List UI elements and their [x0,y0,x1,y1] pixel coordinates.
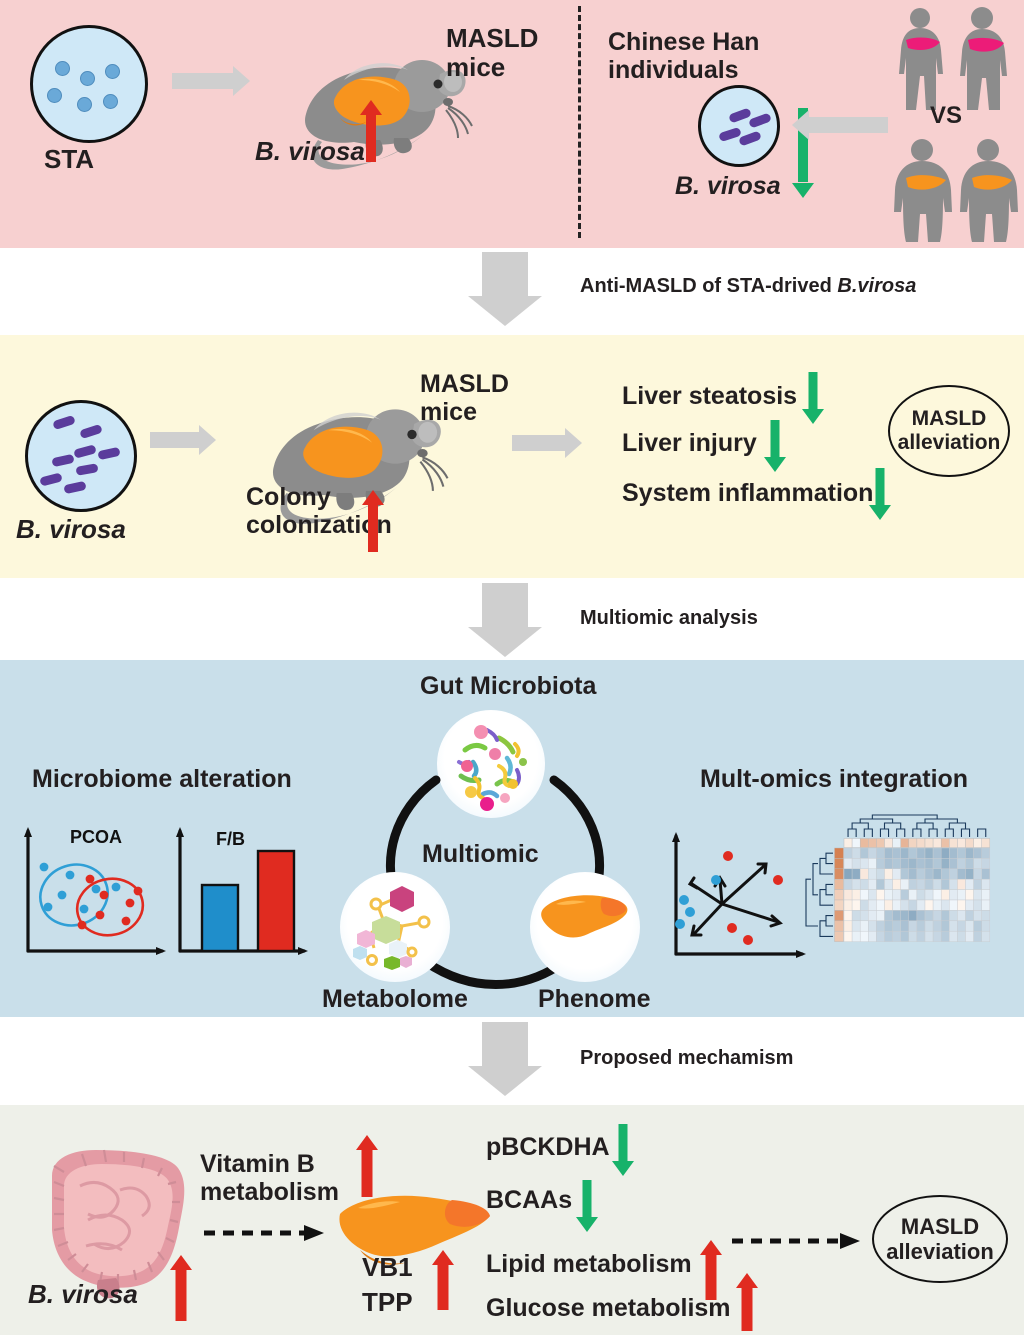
masld-alleviation-badge-yellow: MASLD alleviation [888,385,1010,477]
heatmap-cell [933,890,941,900]
multiomic-center-label: Multiomic [422,840,539,868]
heatmap-cell [982,900,990,910]
bacteria-dot [105,64,120,79]
bacteria-rod [73,444,97,458]
heatmap-cell [966,931,974,941]
bacteria-rod [738,131,762,147]
heatmap-cell [957,869,965,879]
heatmap-cell [909,921,917,931]
heatmap-cell [901,921,909,931]
connector-label-1-text: Anti-MASLD of STA-drived [580,275,837,297]
heatmap-cell [974,921,982,931]
heatmap-cell [966,900,974,910]
heatmap-cell [852,900,860,910]
heatmap-cell [949,848,957,858]
metabolome-label: Metabolome [322,985,468,1013]
fb-bar-treated [258,851,294,951]
heatmap-cell [966,858,974,868]
outcome-system-inflammation: System inflammation [622,479,873,507]
heatmap-cell [868,858,876,868]
heatmap-cell [941,921,949,931]
heatmap-cell [860,879,868,889]
heatmap-cell [974,858,982,868]
multiomics-biplot-chart [660,818,825,973]
down-arrow-liver-steatosis [802,372,824,424]
heatmap-cell [933,900,941,910]
heatmap-cell [966,910,974,920]
heatmap-cell [893,931,901,941]
b-virosa-label-human: B. virosa [675,172,781,200]
heatmap-cell [868,890,876,900]
up-arrow-glucose-metabolism [736,1273,758,1331]
heatmap-cell [949,858,957,868]
heatmap-cell [974,900,982,910]
heatmap-cell [949,931,957,941]
heatmap-cell [860,900,868,910]
heatmap-cell [949,900,957,910]
heatmap-cell [974,890,982,900]
heatmap-cell [974,879,982,889]
heatmap-cell [957,879,965,889]
heatmap-cell [885,921,893,931]
heatmap-cell [885,900,893,910]
masld-mice-label-yellow: MASLD mice [420,370,509,426]
dendrogram-branch [961,829,969,837]
heatmap-cell [876,858,884,868]
heatmap-cell [909,900,917,910]
heatmap-cell [909,858,917,868]
heatmap-cell [901,910,909,920]
heatmap-cell [893,839,901,848]
heatmap-cell [917,921,925,931]
pcoa-title: PCOA [70,827,122,847]
heatmap-cell [909,931,917,941]
heatmap-cell [933,869,941,879]
heatmap-cell [974,869,982,879]
human-petri-dish [698,85,780,167]
heatmap-cell [901,848,909,858]
heatmap-cell [835,879,844,889]
masld-alleviation-text-yellow: MASLD alleviation [890,407,1008,455]
phenome-label: Phenome [538,985,651,1013]
heatmap-cell [876,848,884,858]
heatmap-cell [949,879,957,889]
heatmap-cell [852,879,860,889]
heatmap-cell [885,879,893,889]
down-arrow-liver-injury [764,420,786,472]
heatmap-cell [852,921,860,931]
heatmap-cell [844,931,852,941]
heatmap-cell [909,839,917,848]
heatmap-cell [893,879,901,889]
dashed-arrow-gut-to-liver [202,1222,332,1244]
heatmap-cell [844,869,852,879]
up-arrow-b-virosa-mice [360,100,382,162]
heatmap-cell [876,890,884,900]
heatmap-cell [949,890,957,900]
heatmap-cell [860,869,868,879]
heatmap-cell [835,900,844,910]
connector-label-1: Anti-MASLD of STA-drived B.virosa [580,275,916,298]
pcoa-scatter-chart: PCOA [12,815,180,967]
heatmap-cell [949,921,957,931]
heatmap-cell [917,900,925,910]
heatmap-cell [868,869,876,879]
heatmap-cell [941,848,949,858]
heatmap-cell [925,848,933,858]
heatmap-cell [893,848,901,858]
heatmap-cell [844,910,852,920]
heatmap-cell [909,869,917,879]
effect-bcaas: BCAAs [486,1186,572,1214]
heatmap-cell [844,921,852,931]
down-arrow-bcaas [576,1180,598,1232]
metabolome-circle [340,872,450,982]
heatmap-cell [933,910,941,920]
down-arrow-pbckdha [612,1124,634,1176]
heatmap-cell [982,869,990,879]
heatmap-cell [860,931,868,941]
heatmap-cell [941,900,949,910]
heatmap-cell [957,839,965,848]
heatmap-cell [933,921,941,931]
heatmap-cell [876,900,884,910]
heatmap-cell [901,890,909,900]
healthy-human-figures [890,6,1020,116]
down-arrow-system-inflammation [869,468,891,520]
heatmap-cell [949,839,957,848]
heatmap-cell [925,890,933,900]
dendrogram-branch [826,916,833,926]
heatmap-cell [901,839,909,848]
heatmap-cell [966,848,974,858]
heatmap-cell [860,848,868,858]
heatmap-cell [835,869,844,879]
heatmap-cell [925,921,933,931]
heatmap-cell [876,921,884,931]
dendrogram-branch [897,829,905,837]
heatmap-cell [982,848,990,858]
grey-arrow-dish-to-mouse [150,432,200,448]
dendrogram-branch [864,829,872,837]
heatmap-cell [917,931,925,941]
heatmap-cell [835,931,844,941]
chinese-han-label: Chinese Han individuals [608,28,759,84]
dendrogram-branch [978,829,986,837]
bacteria-dot [77,97,92,112]
heatmap-cell [941,931,949,941]
masld-alleviation-text-green: MASLD alleviation [874,1214,1006,1265]
heatmap-cell [893,921,901,931]
b-virosa-petri-dish [25,400,137,512]
heatmap-cell [885,910,893,920]
outcome-liver-injury: Liver injury [622,429,757,457]
heatmap-cell [941,879,949,889]
effect-pbckdha: pBCKDHA [486,1133,610,1161]
heatmap-cell [893,869,901,879]
heatmap-cell [909,879,917,889]
grey-arrow-humans-to-dish [808,117,888,133]
heatmap-cell [844,858,852,868]
heatmap-cell [982,858,990,868]
heatmap-cell [901,931,909,941]
heatmap-cell [852,890,860,900]
dendrogram-branch [885,823,901,829]
heatmap-cell [925,931,933,941]
bacteria-rod [51,454,74,467]
heatmap-cell [941,890,949,900]
dendrogram-branch [852,823,868,829]
heatmap-cell [868,931,876,941]
dendrogram-branch [925,819,957,823]
bacteria-rod [52,415,76,430]
connector-label-1-italic: B.virosa [837,275,916,297]
heatmap-cell [860,921,868,931]
heatmap-cell [982,839,990,848]
heatmap-cell [925,900,933,910]
heatmap-cell [852,858,860,868]
heatmap-cell [885,839,893,848]
up-arrow-liver-metabolites [432,1250,454,1310]
heatmap-cell [860,839,868,848]
heatmap-cell [925,839,933,848]
heatmap-cell [933,931,941,941]
bacteria-dot [80,71,95,86]
heatmap-cell [876,879,884,889]
heatmap-cell [860,890,868,900]
heatmap-cell [941,839,949,848]
heatmap-cell [966,921,974,931]
connector-label-3: Proposed mechamism [580,1047,793,1070]
dendrogram-branch [945,829,953,837]
heatmap-cell [885,848,893,858]
up-arrow-b-virosa-green [170,1255,192,1321]
dendrogram-branch [949,823,965,829]
vb1-label: VB1 [362,1253,413,1282]
heatmap-cell [893,858,901,868]
heatmap-cell [982,879,990,889]
heatmap-cell [957,910,965,920]
heatmap-cell [949,910,957,920]
bacteria-rod [748,113,772,129]
heatmap-cell [852,931,860,941]
heatmap-cell [868,900,876,910]
heatmap-cell [835,910,844,920]
heatmap-cell [982,910,990,920]
grey-arrow-mouse-to-outcomes [512,435,566,451]
dendrogram-branch [917,823,933,829]
grey-arrow-sta-to-mouse [172,73,234,89]
fb-ratio-bar-chart: F/B [160,815,320,967]
heatmap-cell [917,890,925,900]
heatmap-cell [957,931,965,941]
bacteria-rod [63,481,86,494]
heatmap-cell [917,848,925,858]
fb-title: F/B [216,829,245,849]
heatmap-cell [957,900,965,910]
bacteria-rod [75,463,98,476]
heatmap-cell [876,910,884,920]
up-arrow-colonization [362,490,384,552]
heatmap-cell [893,900,901,910]
heatmap-cell [893,910,901,920]
heatmap-cell [844,848,852,858]
vs-label: VS [930,103,962,130]
heatmap-cell [876,931,884,941]
heatmap-cell [876,869,884,879]
bacteria-rod [79,424,103,439]
heatmap-cell [925,879,933,889]
heatmap-cell [852,869,860,879]
dendrogram-branch [848,829,856,837]
bacteria-dot [103,94,118,109]
dendrogram-branch [860,819,892,823]
outcome-liver-steatosis: Liver steatosis [622,382,797,410]
dendrogram-branch [826,853,833,863]
heatmap-cell [941,910,949,920]
heatmap-cell [941,869,949,879]
obese-human-figures [888,138,1022,248]
heatmap-cell [917,858,925,868]
heatmap-cell [852,910,860,920]
connector-arrow-3 [468,1022,542,1096]
heatmap-cell [835,890,844,900]
bacteria-dot [55,61,70,76]
tpp-label: TPP [362,1288,413,1317]
b-virosa-label-green: B. virosa [28,1280,138,1309]
phenome-circle [530,872,640,982]
heatmap-cell [957,890,965,900]
heatmap-cell [852,839,860,848]
multiomics-integration-title: Mult-omics integration [700,765,968,793]
heatmap-cell [966,869,974,879]
b-virosa-label-pink: B. virosa [255,137,365,166]
heatmap-cell [868,848,876,858]
masld-mice-label-pink: MASLD mice [446,24,538,82]
masld-alleviation-badge-green: MASLD alleviation [872,1195,1008,1283]
heatmap-cell [957,921,965,931]
heatmap-cell [925,910,933,920]
heatmap-cell [860,858,868,868]
heatmap-cell [917,910,925,920]
dendrogram-branch [929,829,937,837]
heatmap-cell [901,900,909,910]
heatmap-cell [844,890,852,900]
gut-microbiota-label: Gut Microbiota [420,672,596,700]
dendrogram-branch [880,829,888,837]
dendrogram-branch [826,884,833,894]
heatmap-cell [844,879,852,889]
heatmap-cell [974,839,982,848]
heatmap-cell [957,848,965,858]
heatmap-cell [917,869,925,879]
heatmap-cell [901,858,909,868]
heatmap-cell [925,869,933,879]
heatmap-cell [835,921,844,931]
heatmap-cell [885,931,893,941]
heatmap-cell [909,910,917,920]
connector-arrow-1 [468,252,542,326]
heatmap-cell [901,879,909,889]
heatmap-cell [835,848,844,858]
heatmap-cell [933,858,941,868]
heatmap-cell [835,858,844,868]
heatmap-cell [901,869,909,879]
sta-petri-dish [30,25,148,143]
heatmap-cell [885,869,893,879]
multiomics-heatmap [818,818,1010,978]
heatmap-cell [933,839,941,848]
heatmap-cell [909,890,917,900]
heatmap-cell [868,910,876,920]
heatmap-cell [974,848,982,858]
fb-bar-control [202,885,238,951]
heatmap-cell [933,848,941,858]
panel-colonization-outcomes [0,335,1024,578]
bacteria-dot [47,88,62,103]
heatmap-cell [844,839,852,848]
heatmap-cell [974,931,982,941]
effect-glucose-metabolism: Glucose metabolism [486,1294,731,1322]
up-arrow-lipid-metabolism [700,1240,722,1300]
heatmap-cell [844,900,852,910]
heatmap-cell [982,931,990,941]
heatmap-cell [860,910,868,920]
b-virosa-label-yellow: B. virosa [16,515,126,544]
heatmap-cell [868,879,876,889]
bacteria-rod [39,472,63,486]
heatmap-cell [925,858,933,868]
heatmap-cell [957,858,965,868]
heatmap-cell [933,879,941,889]
bacteria-rod [97,447,120,460]
connector-arrow-2 [468,583,542,657]
heatmap-cell [917,879,925,889]
heatmap-cell [876,839,884,848]
heatmap-cell [893,890,901,900]
dashed-arrow-to-alleviation [730,1230,870,1252]
heatmap-cell [941,858,949,868]
heatmap-cell [982,921,990,931]
effect-lipid-metabolism: Lipid metabolism [486,1250,692,1278]
heatmap-cell [885,858,893,868]
vitamin-b-metabolism-label: Vitamin B metabolism [200,1150,339,1206]
heatmap-cell [966,839,974,848]
heatmap-cell [885,890,893,900]
heatmap-cell [909,848,917,858]
heatmap-cell [974,910,982,920]
dendrogram-branch [913,829,921,837]
heatmap-cell [868,839,876,848]
connector-label-2: Multiomic analysis [580,607,758,630]
heatmap-cell [852,848,860,858]
heatmap-cell [966,879,974,889]
heatmap-cell [966,890,974,900]
sta-dish-label: STA [44,145,94,174]
heatmap-cell [868,921,876,931]
heatmap-cell [949,869,957,879]
panel-divider-dashed [578,6,581,238]
heatmap-cell [917,839,925,848]
microbiome-alteration-title: Microbiome alteration [32,765,292,793]
heatmap-cell [982,890,990,900]
